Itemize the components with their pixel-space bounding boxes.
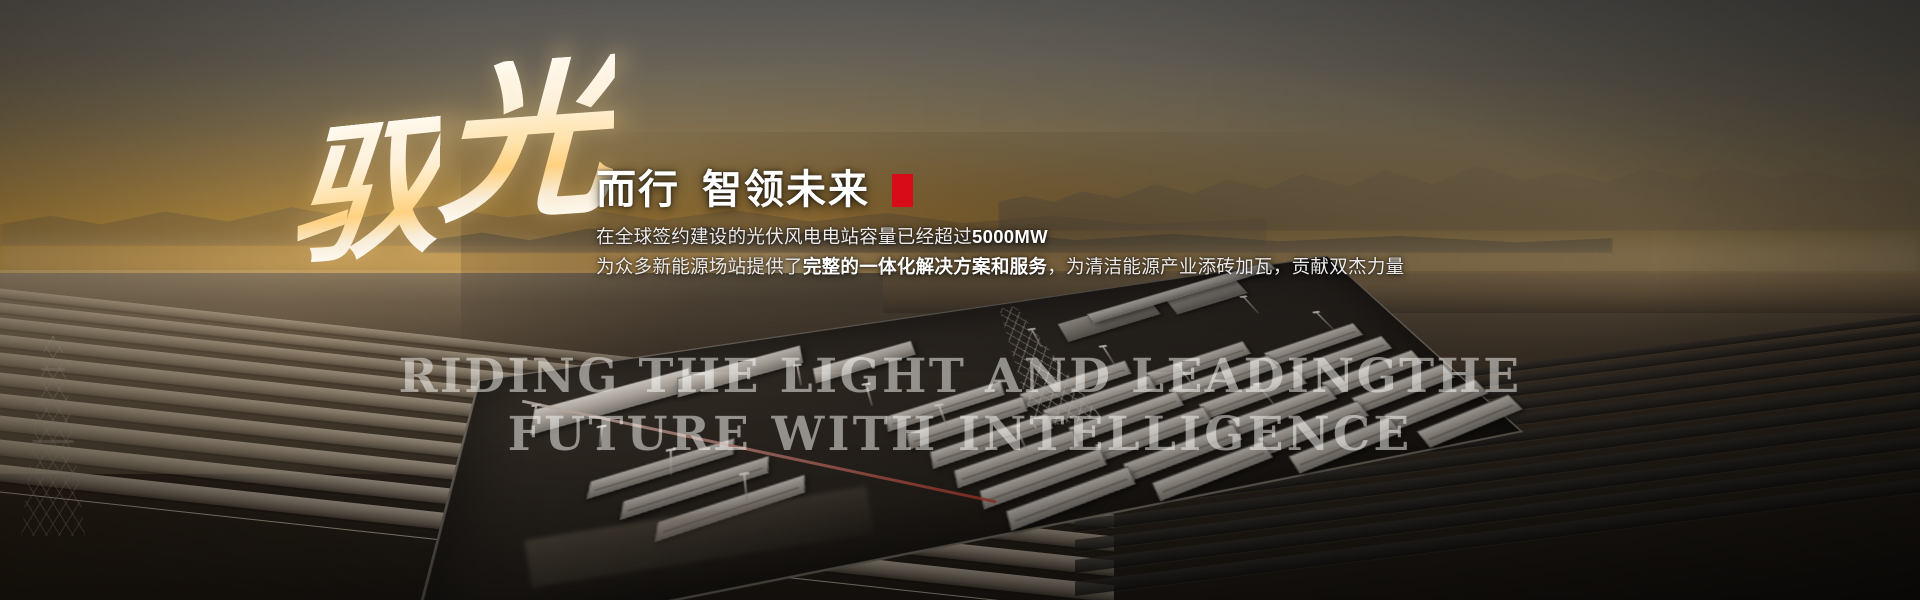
subtitle-line-2-tail: ，为清洁能源产业添砖加瓦，贡献双杰力量: [1047, 256, 1404, 277]
subtitle-line-1: 在全球签约建设的光伏风电电站容量已经超过5000MW: [596, 222, 1416, 252]
subtitle-line-2-strong: 完整的一体化解决方案和服务: [803, 256, 1047, 277]
switchgear-building: [677, 345, 804, 398]
yard-light-pole: [796, 364, 802, 386]
background-photo: [0, 0, 1920, 600]
yard-light-pole: [864, 383, 872, 406]
subtitle-line-1-lead: 在全球签约建设的光伏风电电站容量已经超过: [596, 226, 972, 247]
inverter-building: [812, 341, 916, 384]
red-accent-block: [892, 174, 913, 207]
subtitle-line-1-strong: 5000MW: [972, 226, 1048, 247]
yard-light-pole: [1242, 296, 1259, 314]
subtitle-line-2-lead: 为众多新能源场站提供了: [596, 256, 803, 277]
yard-light-pole: [1101, 345, 1116, 365]
hero-copy-block: 而行 智领未来 在全球签约建设的光伏风电电站容量已经超过5000MW 为众多新能…: [596, 168, 1416, 282]
headline-part-1: 而行: [596, 168, 680, 213]
yard-light-pole: [669, 448, 672, 475]
subtitle-line-2: 为众多新能源场站提供了完整的一体化解决方案和服务，为清洁能源产业添砖加瓦，贡献双…: [596, 252, 1416, 282]
hero-banner: 驭 光 而行 智领未来 在全球签约建设的光伏风电电站容量已经超过5000MW 为…: [0, 0, 1920, 600]
headline: 而行 智领未来: [596, 168, 1416, 213]
control-building: [529, 368, 689, 435]
bess-substation-compound: [509, 294, 1373, 594]
headline-part-2: 智领未来: [702, 168, 870, 213]
yard-light-pole: [598, 425, 603, 451]
yard-light-pole: [1315, 311, 1335, 329]
